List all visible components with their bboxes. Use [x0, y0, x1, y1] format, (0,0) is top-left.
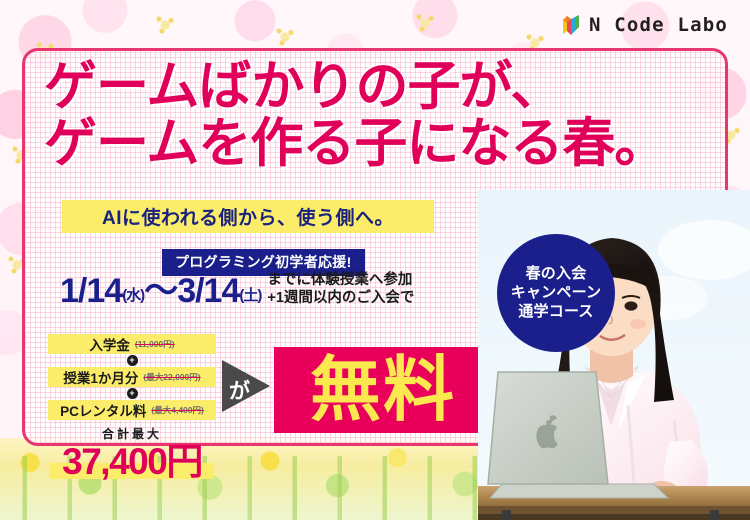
fee-original-price: (最大22,000円) — [143, 371, 200, 383]
fee-row: 授業1か月分 (最大22,000円) — [48, 367, 216, 387]
date-end: 3/14 — [177, 272, 239, 310]
plus-icon: + — [127, 388, 138, 399]
promo-banner: N Code Labo ゲームばかりの子が、 ゲームを作る子になる春。 AIに使… — [0, 0, 750, 520]
student-photo — [478, 190, 750, 520]
plus-icon: + — [127, 355, 138, 366]
badge-line-2: キャンペーン — [511, 284, 601, 302]
fee-original-price: (11,000円) — [135, 338, 175, 350]
condition-line-2: +1週間以内のご入会で — [267, 290, 414, 308]
headline-line-1: ゲームばかりの子が、 — [44, 57, 562, 116]
condition-line-1: までに体験授業へ参加 — [267, 272, 414, 290]
fee-original-price: (最大4,400円) — [151, 404, 203, 416]
date-start: 1/14 — [60, 272, 122, 310]
fee-row: PCレンタル料 (最大4,400円) — [48, 400, 216, 420]
badge-line-1: 春の入会 — [526, 265, 587, 283]
total-amount-value: 37,400円 — [62, 441, 202, 482]
ncodelabo-mark-icon — [561, 14, 581, 36]
fee-row: 入学金 (11,000円) — [48, 334, 216, 354]
headline-line-2: ゲームを作る子になる春。 — [44, 115, 666, 172]
campaign-period: 1/14(水)〜3/14(土) までに体験授業へ参加 +1週間以内のご入会で — [60, 272, 414, 308]
total-label: 合計最大 — [48, 425, 216, 442]
campaign-conditions: までに体験授業へ参加 +1週間以内のご入会で — [267, 272, 414, 308]
ai-tagline-band: AIに使われる側から、使う側へ。 — [62, 200, 434, 233]
badge-line-3: 通学コース — [518, 303, 593, 321]
date-start-weekday: (水) — [122, 287, 144, 304]
brand-logo-text: N Code Labo — [589, 14, 728, 36]
free-label: 無料 — [310, 355, 456, 426]
student-photo-illustration — [478, 190, 750, 520]
date-end-weekday: (土) — [239, 287, 261, 304]
brand-logo[interactable]: N Code Labo — [561, 14, 728, 36]
status-badge: 春の入会 キャンペーン 通学コース — [497, 234, 615, 352]
ai-tagline-text: AIに使われる側から、使う側へ。 — [102, 203, 394, 230]
free-callout: 無料 — [274, 347, 492, 433]
fee-breakdown: 入学金 (11,000円) + 授業1か月分 (最大22,000円) + PCレ… — [48, 334, 216, 480]
fee-label: PCレンタル料 — [60, 400, 146, 420]
date-separator: 〜 — [144, 272, 177, 310]
page-title: ゲームばかりの子が、 ゲームを作る子になる春。 — [44, 58, 666, 172]
fee-label: 入学金 — [89, 334, 130, 354]
fee-label: 授業1か月分 — [63, 367, 138, 387]
total-amount: 37,400円 — [48, 443, 216, 480]
campaign-date-range: 1/14(水)〜3/14(土) — [60, 274, 261, 308]
